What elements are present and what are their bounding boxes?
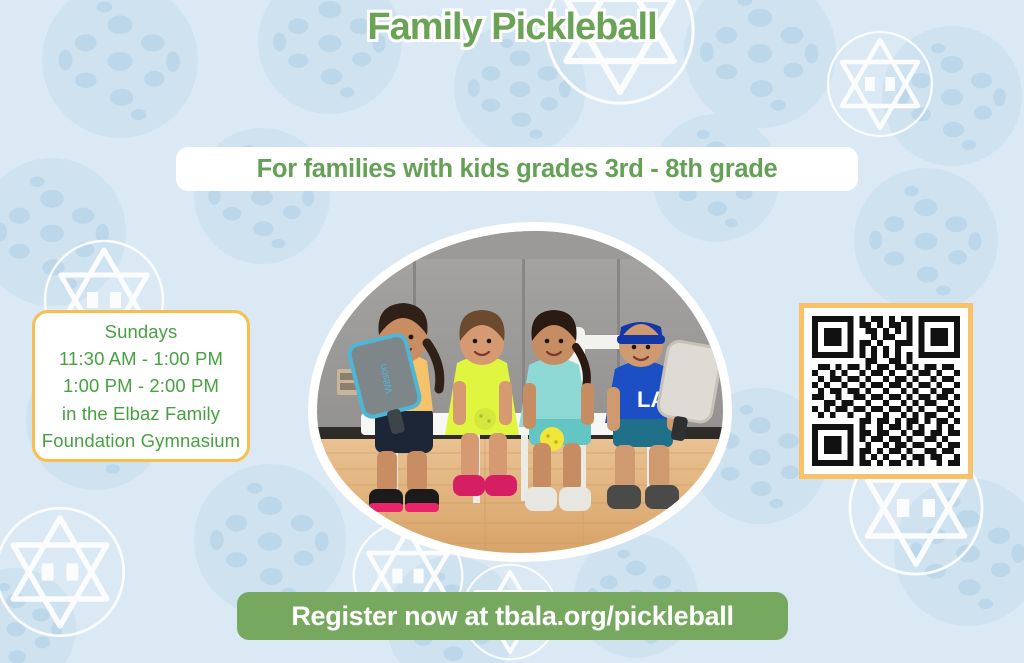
pickleball-hole bbox=[948, 250, 967, 264]
pickleball-hole bbox=[708, 202, 727, 216]
pickleball-hole bbox=[991, 562, 1010, 577]
pickleball-hole bbox=[258, 532, 282, 550]
pickleball-hole bbox=[904, 186, 918, 196]
pickleball-hole bbox=[697, 130, 710, 139]
arm bbox=[581, 383, 594, 425]
register-cta-banner[interactable]: Register now at tbala.org/pickleball bbox=[237, 592, 788, 640]
sneaker bbox=[453, 475, 485, 496]
leg bbox=[407, 451, 427, 493]
pickleball-hole bbox=[223, 207, 242, 221]
pickleball-hole bbox=[750, 80, 773, 97]
pickleball-hole bbox=[9, 208, 30, 224]
sneaker bbox=[607, 485, 641, 509]
pickleball-hole bbox=[778, 434, 798, 449]
pickleball-hole bbox=[911, 73, 931, 88]
pickleball-hole bbox=[482, 66, 500, 81]
pickleball-hole bbox=[600, 576, 617, 590]
pickleball-hole bbox=[740, 405, 754, 415]
pickleball-hole bbox=[974, 106, 992, 120]
pickleball-hole bbox=[748, 44, 772, 62]
pickleball-hole bbox=[258, 497, 282, 515]
pickleball-hole bbox=[260, 568, 283, 585]
pickleball-hole bbox=[653, 576, 672, 590]
pickleball-hole bbox=[352, 52, 371, 66]
pickleball-hole bbox=[9, 244, 30, 259]
pickleball-hole bbox=[869, 231, 882, 250]
pickleball-hole bbox=[340, 87, 354, 97]
pickleball-hole bbox=[35, 636, 51, 648]
pickleball-hole bbox=[302, 189, 314, 207]
page-title: Family Pickleball bbox=[0, 8, 1024, 47]
pickleball-hole bbox=[936, 285, 950, 295]
pickleball-hole bbox=[321, 69, 343, 85]
pickleball-hole bbox=[917, 267, 939, 283]
pickleball-hole bbox=[58, 50, 72, 70]
pickleball-hole bbox=[751, 481, 771, 496]
info-line-session-2: 1:00 PM - 2:00 PM bbox=[63, 372, 219, 399]
pickleball-hole bbox=[110, 89, 133, 106]
pickleball-hole bbox=[8, 650, 26, 663]
pickleball-hole bbox=[226, 515, 247, 532]
info-line-venue-2: Foundation Gymnasium bbox=[42, 427, 240, 454]
info-line-day: Sundays bbox=[105, 318, 178, 345]
pickleball-hole bbox=[943, 122, 964, 137]
sneaker bbox=[525, 487, 557, 511]
shorts bbox=[613, 419, 673, 447]
pickleball-hole bbox=[529, 130, 542, 139]
pickleball-hole bbox=[283, 206, 301, 220]
pickleball-hole bbox=[251, 189, 273, 205]
leg bbox=[489, 433, 507, 479]
pickleball-hole bbox=[72, 208, 94, 224]
leg bbox=[533, 443, 551, 491]
pickleball-hole bbox=[978, 599, 993, 609]
family-pickleball-flyer: Family Pickleball For families with kids… bbox=[0, 0, 1024, 663]
subtitle-pill: For families with kids grades 3rd - 8th … bbox=[176, 147, 858, 191]
qr-code[interactable] bbox=[799, 303, 973, 479]
leg bbox=[649, 445, 669, 489]
pickleball-hole bbox=[131, 109, 147, 120]
pickleball-hole bbox=[945, 216, 967, 232]
pickleball-hole bbox=[962, 140, 976, 150]
pickleball-hole bbox=[108, 52, 133, 71]
pickleball-hole bbox=[716, 64, 737, 79]
pickleball-hole bbox=[968, 232, 981, 251]
pickleball-hole bbox=[40, 190, 64, 208]
info-line-session-1: 11:30 AM - 1:00 PM bbox=[59, 345, 223, 372]
pickleball-hole bbox=[144, 71, 164, 87]
wall-top-band bbox=[317, 231, 723, 259]
pickleball-hole bbox=[166, 51, 180, 71]
pickleball bbox=[474, 408, 496, 430]
arm bbox=[453, 381, 466, 425]
pickleball-hole bbox=[40, 225, 64, 243]
pickleball-hole bbox=[75, 72, 97, 88]
pickleball-icon bbox=[882, 26, 1022, 166]
pickleball-hole bbox=[443, 646, 463, 661]
pickleball-hole bbox=[482, 99, 500, 112]
pickleball-hole bbox=[626, 561, 646, 576]
register-cta-text: Register now at tbala.org/pickleball bbox=[291, 601, 733, 632]
pickleball-hole bbox=[993, 88, 1006, 106]
schedule-info-box: Sundays 11:30 AM - 1:00 PM 1:00 PM - 2:0… bbox=[32, 310, 250, 462]
arm bbox=[607, 387, 620, 431]
pickleball-hole bbox=[941, 89, 963, 106]
leg bbox=[563, 443, 581, 491]
pickleball-hole bbox=[226, 552, 247, 567]
pickleball-hole bbox=[253, 221, 273, 236]
kids-photo: Wilson bbox=[308, 222, 732, 562]
leg bbox=[615, 445, 635, 489]
pickleball-hole bbox=[884, 252, 904, 266]
sneaker bbox=[485, 475, 517, 496]
pickleball-hole bbox=[958, 579, 980, 595]
pickleball-hole bbox=[540, 97, 557, 110]
leg bbox=[377, 451, 397, 493]
pickleball-hole bbox=[749, 417, 771, 433]
pickleball-hole bbox=[210, 530, 224, 550]
pickleball-hole bbox=[538, 66, 558, 81]
pickleball-hole bbox=[784, 63, 804, 78]
arm bbox=[499, 381, 512, 425]
pickleball-hole bbox=[511, 112, 531, 127]
pickleball-hole bbox=[288, 54, 308, 68]
pickleball-hole bbox=[30, 177, 45, 187]
qr-code-matrix bbox=[812, 316, 960, 466]
pickleball-hole bbox=[749, 449, 771, 465]
pickleball-hole bbox=[106, 464, 120, 474]
pickleball-hole bbox=[884, 216, 904, 232]
pickleball-hole bbox=[509, 81, 530, 97]
info-line-venue-1: in the Elbaz Family bbox=[62, 400, 220, 427]
pickleball-hole bbox=[509, 50, 530, 66]
leg bbox=[461, 433, 479, 479]
pickleball-hole bbox=[770, 499, 784, 509]
pickleball-hole bbox=[988, 528, 1010, 544]
pickleball-hole bbox=[941, 56, 963, 73]
pickleball-hole bbox=[771, 100, 786, 111]
pickleball-hole bbox=[272, 239, 286, 249]
pickleball-hole bbox=[468, 79, 480, 96]
sneaker bbox=[559, 487, 591, 511]
pickleball-hole bbox=[247, 483, 262, 494]
pickleball-hole bbox=[914, 233, 937, 250]
pickleball-hole bbox=[32, 608, 50, 621]
arm bbox=[523, 383, 536, 429]
cap-brim bbox=[617, 335, 665, 344]
pickleball-icon bbox=[854, 168, 998, 312]
subtitle-text: For families with kids grades 3rd - 8th … bbox=[257, 155, 778, 184]
pickleball-hole bbox=[971, 73, 992, 88]
pickleball-hole bbox=[781, 466, 799, 480]
pickleball-hole bbox=[914, 199, 937, 216]
